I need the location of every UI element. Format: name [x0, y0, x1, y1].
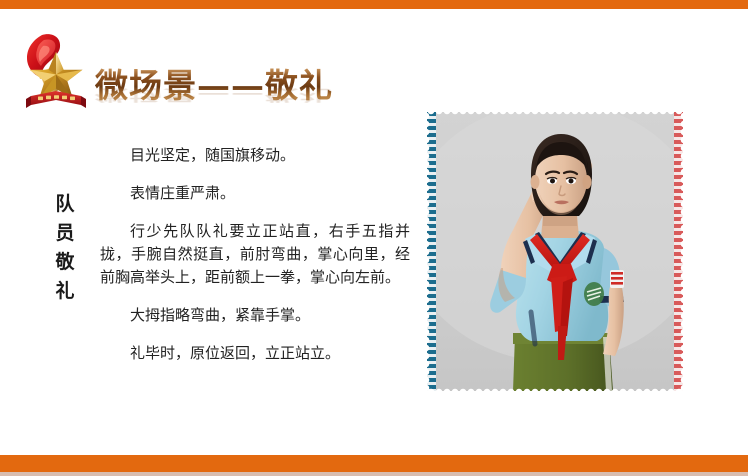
young-pioneers-emblem-icon — [12, 26, 100, 114]
bottom-accent-bar-shadow — [0, 472, 748, 476]
section-label-char-2: 员 — [52, 219, 78, 248]
body-text-block: 目光坚定，随国旗移动。 表情庄重严肃。 行少先队队礼要立正站直，右手五指并拢，手… — [100, 144, 410, 365]
school-badge — [584, 282, 604, 306]
slide-title-block: 微场景——敬礼 微场景——敬礼 — [95, 66, 333, 122]
sleeve-patch — [610, 270, 624, 288]
top-accent-bar — [0, 0, 748, 9]
emblem-banner-shape — [26, 91, 86, 108]
salute-photo — [427, 112, 683, 391]
body-paragraph: 目光坚定，随国旗移动。 — [100, 144, 410, 167]
body-paragraph: 行少先队队礼要立正站直，右手五指并拢，手腕自然挺直，前肘弯曲，掌心向里，经前胸高… — [100, 220, 410, 289]
bottom-accent-bar — [0, 455, 748, 472]
body-paragraph: 大拇指略弯曲，紧靠手掌。 — [100, 304, 410, 327]
stamp-stripe-right — [674, 112, 683, 391]
section-label-char-4: 礼 — [52, 277, 78, 306]
body-paragraph: 表情庄重严肃。 — [100, 182, 410, 205]
stamp-stripe-left — [427, 112, 436, 391]
section-label-char-1: 队 — [52, 190, 78, 219]
salute-photo-frame — [427, 112, 683, 391]
section-label-char-3: 敬 — [52, 248, 78, 277]
slide-canvas: 微场景——敬礼 微场景——敬礼 队 员 敬 礼 目光坚定，随国旗移动。 表情庄重… — [0, 0, 748, 476]
section-label-vertical: 队 员 敬 礼 — [52, 190, 78, 306]
page-title-reflection: 微场景——敬礼 — [95, 86, 333, 104]
body-paragraph: 礼毕时，原位返回，立正站立。 — [100, 342, 410, 365]
